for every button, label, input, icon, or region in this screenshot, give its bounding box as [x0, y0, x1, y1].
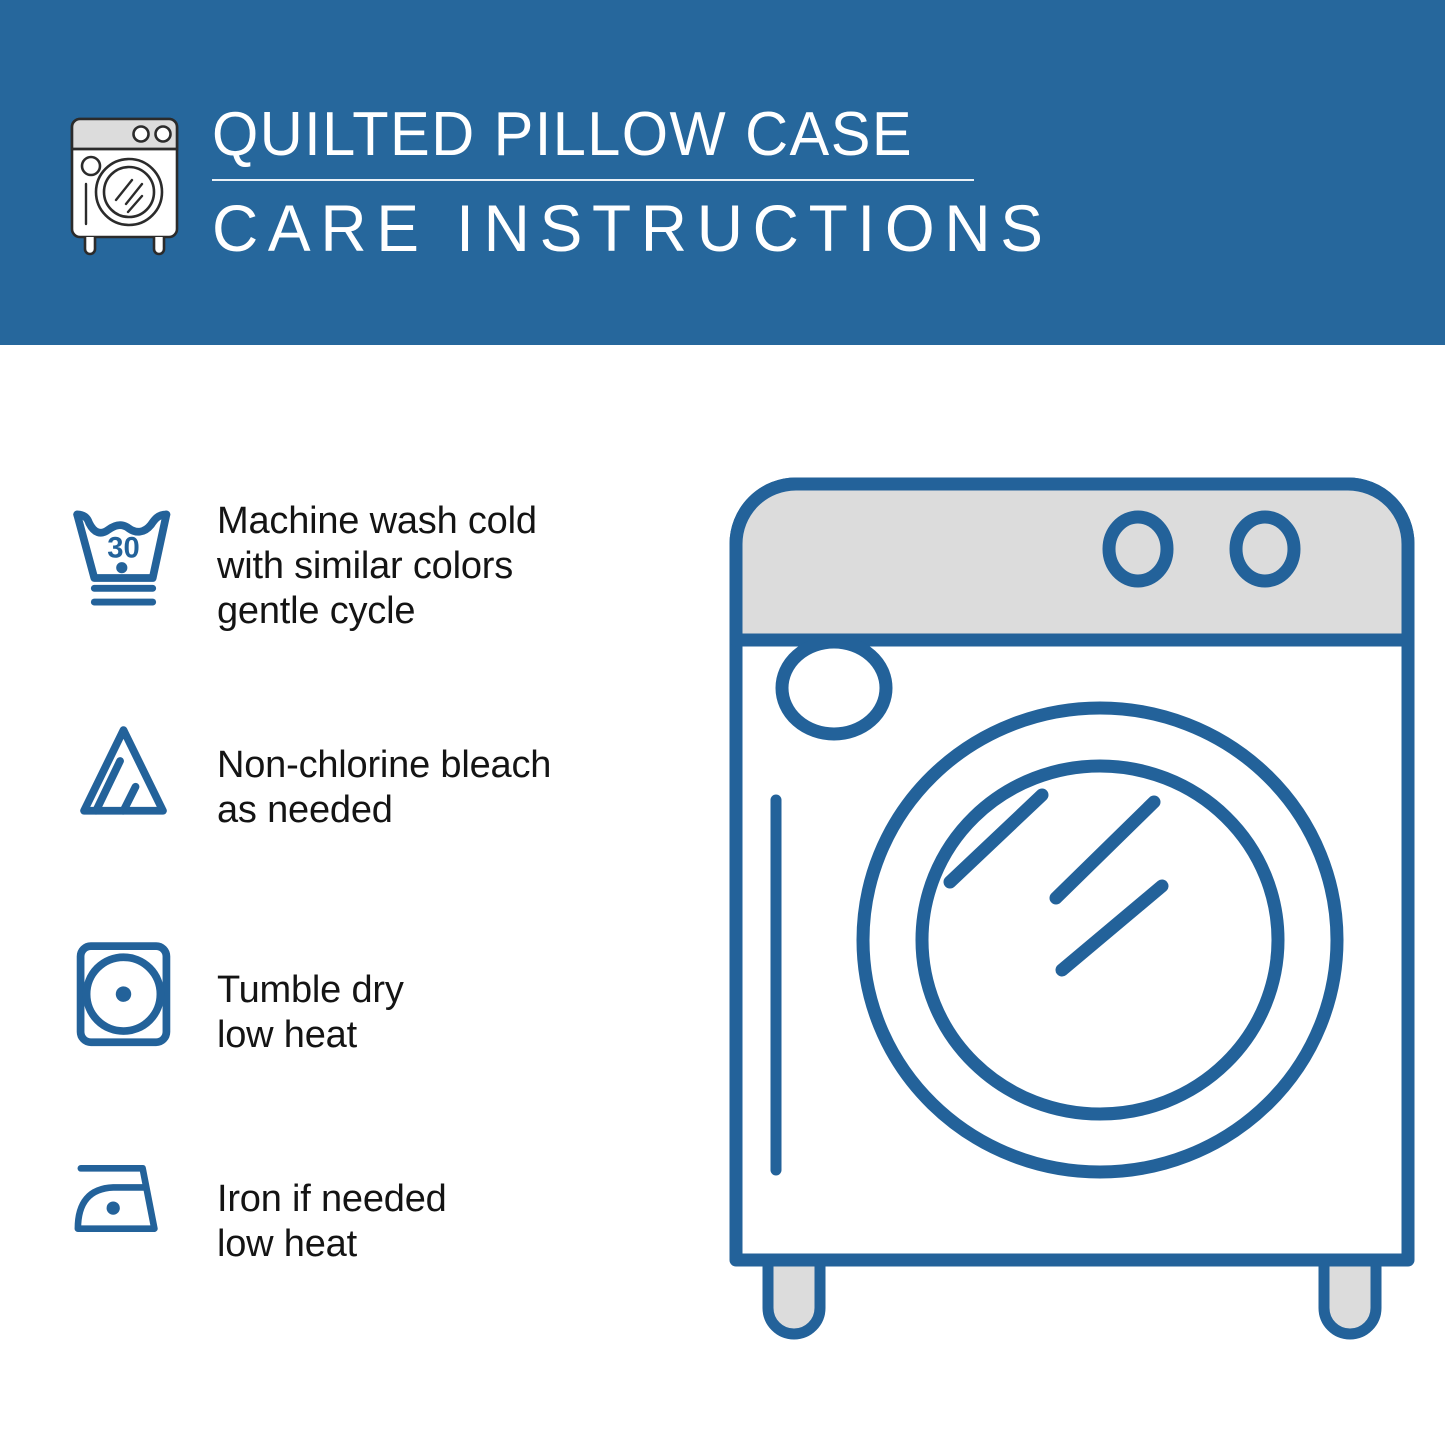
care-label-tumble-dry: Tumble dry low heat — [217, 930, 404, 1058]
care-label-line: Iron if needed — [217, 1177, 447, 1222]
iron-low-heat-icon — [0, 1145, 175, 1310]
care-label-line: low heat — [217, 1222, 447, 1267]
care-label-machine-wash: Machine wash cold with similar colors ge… — [217, 495, 537, 634]
page-subtitle: CARE INSTRUCTIONS — [212, 191, 1085, 265]
care-instructions-page: QUILTED PILLOW CASE CARE INSTRUCTIONS 30 — [0, 0, 1445, 1445]
wash-temperature-value: 30 — [107, 532, 139, 564]
page-title: QUILTED PILLOW CASE — [212, 100, 1076, 170]
care-label-line: Non-chlorine bleach — [217, 743, 551, 788]
care-label-line: Machine wash cold — [217, 499, 537, 544]
header-banner: QUILTED PILLOW CASE CARE INSTRUCTIONS — [0, 0, 1445, 345]
tumble-dry-low-heat-icon — [0, 930, 175, 1095]
care-label-line: gentle cycle — [217, 589, 537, 634]
wash-tub-30-gentle-icon: 30 — [0, 495, 175, 660]
header-text-block: QUILTED PILLOW CASE CARE INSTRUCTIONS — [212, 100, 1112, 265]
care-label-line: Tumble dry — [217, 968, 404, 1013]
non-chlorine-bleach-triangle-icon — [0, 713, 175, 878]
care-label-bleach: Non-chlorine bleach as needed — [217, 713, 551, 833]
care-row-iron: Iron if needed low heat — [0, 1145, 700, 1310]
title-divider — [212, 179, 974, 181]
front-load-washing-machine-illustration — [722, 470, 1422, 1370]
washing-machine-icon — [62, 104, 187, 256]
care-label-line: with similar colors — [217, 544, 537, 589]
care-row-bleach: Non-chlorine bleach as needed — [0, 713, 700, 878]
care-label-line: low heat — [217, 1013, 404, 1058]
care-label-iron: Iron if needed low heat — [217, 1145, 447, 1267]
care-label-line: as needed — [217, 788, 551, 833]
care-row-tumble-dry: Tumble dry low heat — [0, 930, 700, 1095]
care-instruction-list: 30 Machine wash cold with similar colors… — [0, 345, 700, 1445]
care-row-machine-wash: 30 Machine wash cold with similar colors… — [0, 495, 700, 660]
